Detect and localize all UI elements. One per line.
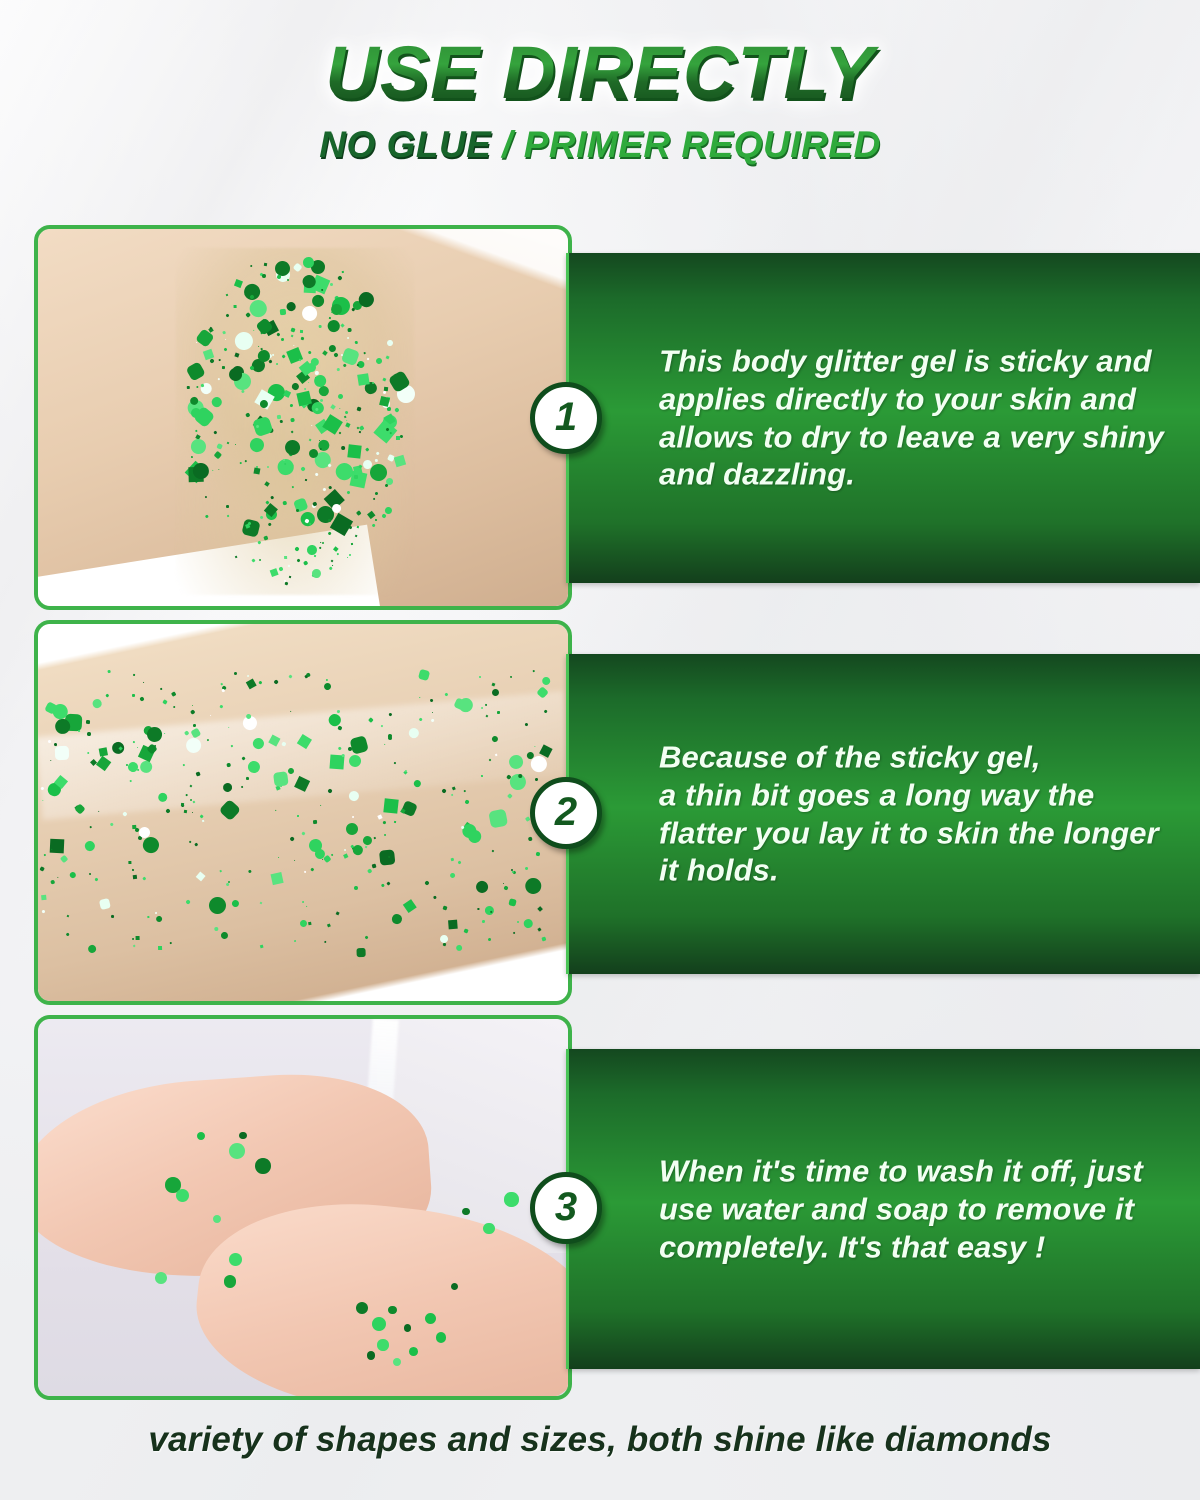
step-panel-3: When it's time to wash it off, just use … xyxy=(566,1049,1200,1369)
page-title: USE DIRECTLY xyxy=(0,36,1200,110)
photo-1-content xyxy=(38,229,568,606)
step-row-2: Because of the sticky gel, a thin bit go… xyxy=(0,620,1200,1005)
photo-2-content xyxy=(38,624,568,1001)
step-row-1: This body glitter gel is sticky and appl… xyxy=(0,225,1200,610)
step-photo-1 xyxy=(34,225,572,610)
header: USE DIRECTLY NO GLUE / PRIMER REQUIRED xyxy=(0,36,1200,163)
page-subtitle: NO GLUE / PRIMER REQUIRED xyxy=(0,126,1200,163)
step-badge-2: 2 xyxy=(530,777,602,849)
step-row-3: When it's time to wash it off, just use … xyxy=(0,1015,1200,1400)
subtitle-part-no-glue: NO GLUE xyxy=(319,124,491,165)
step-text-2: Because of the sticky gel, a thin bit go… xyxy=(659,738,1178,889)
step-photo-2 xyxy=(34,620,572,1005)
step-badge-1: 1 xyxy=(530,382,602,454)
footer-caption: variety of shapes and sizes, both shine … xyxy=(0,1420,1200,1460)
infographic-page: USE DIRECTLY NO GLUE / PRIMER REQUIRED T… xyxy=(0,0,1200,1500)
subtitle-part-primer-required: / PRIMER REQUIRED xyxy=(502,124,881,165)
step-text-1: This body glitter gel is sticky and appl… xyxy=(659,342,1178,493)
photo-1-glitter-blob xyxy=(176,248,415,595)
step-text-3: When it's time to wash it off, just use … xyxy=(659,1152,1178,1265)
step-panel-2: Because of the sticky gel, a thin bit go… xyxy=(566,654,1200,974)
step-photo-3 xyxy=(34,1015,572,1400)
step-badge-3: 3 xyxy=(530,1172,602,1244)
photo-3-content xyxy=(38,1019,568,1396)
step-panel-1: This body glitter gel is sticky and appl… xyxy=(566,253,1200,583)
